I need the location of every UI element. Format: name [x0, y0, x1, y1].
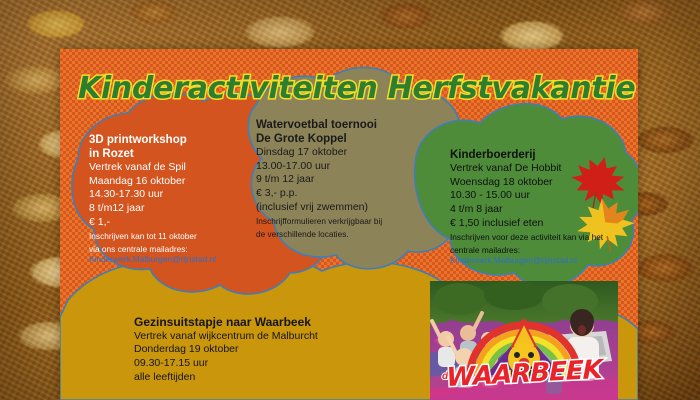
flyer-panel: Kinderactiviteiten Herfstvakantie 3D pri…: [60, 49, 638, 400]
activity-time: 10.30 - 15.00 uur: [450, 189, 628, 203]
waarbeek-photo-card: de WAARBEEK: [430, 281, 618, 400]
activity-note-line2: centrale mailadres:: [450, 245, 628, 256]
activity-date: Maandag 16 oktober: [89, 175, 257, 189]
activity-title-line2: in Rozet: [89, 147, 257, 161]
activity-email-link[interactable]: Kinderwerk.Malburgen@rijnstad.nl: [450, 255, 628, 265]
activity-ages: 9 t/m 12 jaar: [256, 173, 441, 187]
activity-price-note: (inclusief vrij zwemmen): [256, 201, 441, 215]
activity-time: 13.00-17.00 uur: [256, 160, 441, 174]
activity-date: Dinsdag 17 oktober: [256, 146, 441, 160]
activity-ages: 4 t/m 8 jaar: [450, 203, 628, 217]
activity-title-line1: 3D printworkshop: [89, 133, 257, 147]
activity-card-watervoetbal-toernooi: Watervoetbal toernooi De Grote Koppel Di…: [256, 118, 441, 239]
activity-note-line2: via ons centrale mailadres:: [89, 244, 257, 255]
activity-card-kinderboerderij: Kinderboerderij Vertrek vanaf De Hobbit …: [450, 148, 628, 265]
activity-date: Donderdag 19 oktober: [134, 343, 434, 357]
activity-departure: Vertrek vanaf wijkcentrum de Malburcht: [134, 330, 434, 344]
activity-time: 14.30-17.30 uur: [89, 188, 257, 202]
page-title: Kinderactiviteiten Herfstvakantie: [78, 71, 638, 106]
activity-price: € 1,-: [89, 216, 257, 230]
poster-stage: Kinderactiviteiten Herfstvakantie 3D pri…: [0, 0, 700, 400]
activity-note-line1: Inschrijfformulieren verkrijgbaar bij: [256, 216, 441, 227]
activity-note-line1: Inschrijven kan tot 11 oktober: [89, 231, 257, 242]
activity-note-line2: de verschillende locaties.: [256, 229, 441, 240]
activity-title-line1: Watervoetbal toernooi: [256, 118, 441, 132]
activity-email-link[interactable]: Kinderwerk.Malburgen@rijnstad.nl: [89, 254, 257, 264]
activity-price: € 1,50 inclusief eten: [450, 217, 628, 231]
activity-ages: 8 t/m12 jaar: [89, 202, 257, 216]
activity-price: € 3,- p.p.: [256, 187, 441, 201]
activity-departure: Vertrek vanaf de Spil: [89, 161, 257, 175]
activity-card-gezinsuitstapje-waarbeek: Gezinsuitstapje naar Waarbeek Vertrek va…: [134, 315, 434, 384]
activity-ages: alle leeftijden: [134, 371, 434, 385]
activity-time: 09.30-17.15 uur: [134, 357, 434, 371]
activity-card-3d-printworkshop: 3D printworkshop in Rozet Vertrek vanaf …: [89, 133, 257, 264]
activity-title-line1: Kinderboerderij: [450, 148, 628, 162]
activity-departure: Vertrek vanaf De Hobbit: [450, 162, 628, 176]
activity-note-line1: Inschrijven voor deze activiteit kan via…: [450, 232, 628, 243]
activity-date: Woensdag 18 oktober: [450, 176, 628, 190]
activity-title-line1: Gezinsuitstapje naar Waarbeek: [134, 315, 434, 330]
activity-title-line2: De Grote Koppel: [256, 132, 441, 146]
